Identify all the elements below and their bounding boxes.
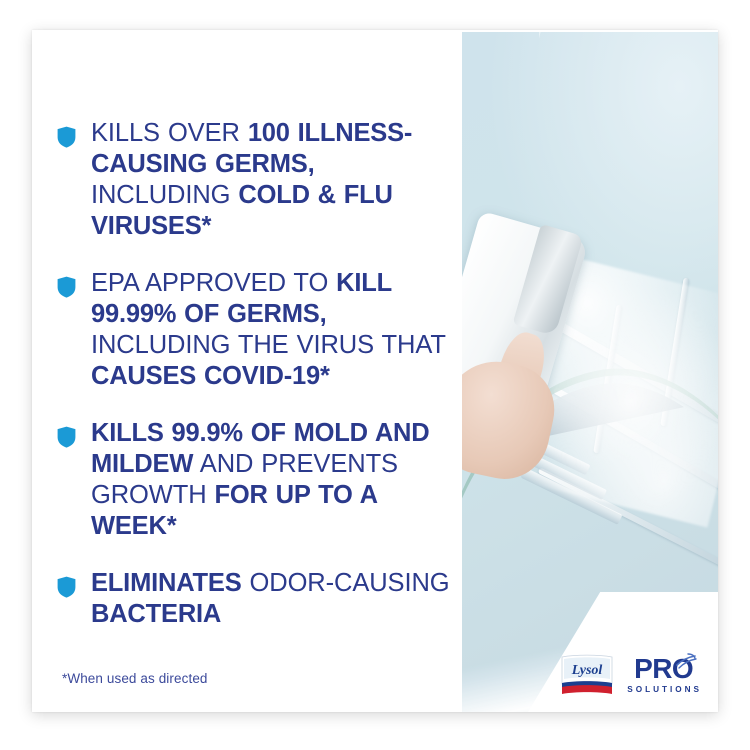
bullet-2-seg-3: CAUSES COVID-19* <box>91 362 330 390</box>
bullet-1-seg-2: INCLUDING <box>91 181 238 209</box>
feature-bullet-list: KILLS OVER 100 ILLNESS-CAUSING GERMS, IN… <box>57 118 457 630</box>
svg-text:Lysol: Lysol <box>571 663 603 678</box>
pro-label: PRO <box>634 655 693 683</box>
bullet-4-seg-2: BACTERIA <box>91 600 221 628</box>
product-feature-card: KILLS OVER 100 ILLNESS-CAUSING GERMS, IN… <box>32 30 718 712</box>
screenshot-root: KILLS OVER 100 ILLNESS-CAUSING GERMS, IN… <box>0 0 750 750</box>
brand-logo: Lysol PRO <box>559 654 702 696</box>
swirl-icon <box>675 650 697 672</box>
shield-icon <box>57 576 76 598</box>
bullet-text-2: EPA APPROVED TO KILL 99.99% OF GERMS, IN… <box>91 268 457 392</box>
bullet-2-seg-2: INCLUDING THE VIRUS THAT <box>91 331 445 359</box>
lysol-badge-icon: Lysol <box>559 654 615 696</box>
bullet-text-4: ELIMINATES ODOR-CAUSING BACTERIA <box>91 568 457 630</box>
shield-icon <box>57 126 76 148</box>
bullet-1-seg-0: KILLS OVER <box>91 119 248 147</box>
pro-solutions-lockup: PRO SOLUTIONS <box>625 655 702 694</box>
list-item: KILLS OVER 100 ILLNESS-CAUSING GERMS, IN… <box>57 118 457 242</box>
footnote-disclaimer: *When used as directed <box>62 671 208 686</box>
list-item: ELIMINATES ODOR-CAUSING BACTERIA <box>57 568 457 630</box>
list-item: EPA APPROVED TO KILL 99.99% OF GERMS, IN… <box>57 268 457 392</box>
bullet-4-seg-0: ELIMINATES <box>91 569 242 597</box>
solutions-label: SOLUTIONS <box>627 686 702 694</box>
list-item: KILLS 99.9% OF MOLD AND MILDEW AND PREVE… <box>57 418 457 542</box>
bullet-4-seg-1: ODOR-CAUSING <box>242 569 450 597</box>
shield-icon <box>57 276 76 298</box>
bullet-text-1: KILLS OVER 100 ILLNESS-CAUSING GERMS, IN… <box>91 118 457 242</box>
shield-icon <box>57 426 76 448</box>
bullet-2-seg-0: EPA APPROVED TO <box>91 269 336 297</box>
product-photo: Lysol PRO <box>462 32 718 712</box>
bullet-text-3: KILLS 99.9% OF MOLD AND MILDEW AND PREVE… <box>91 418 457 542</box>
